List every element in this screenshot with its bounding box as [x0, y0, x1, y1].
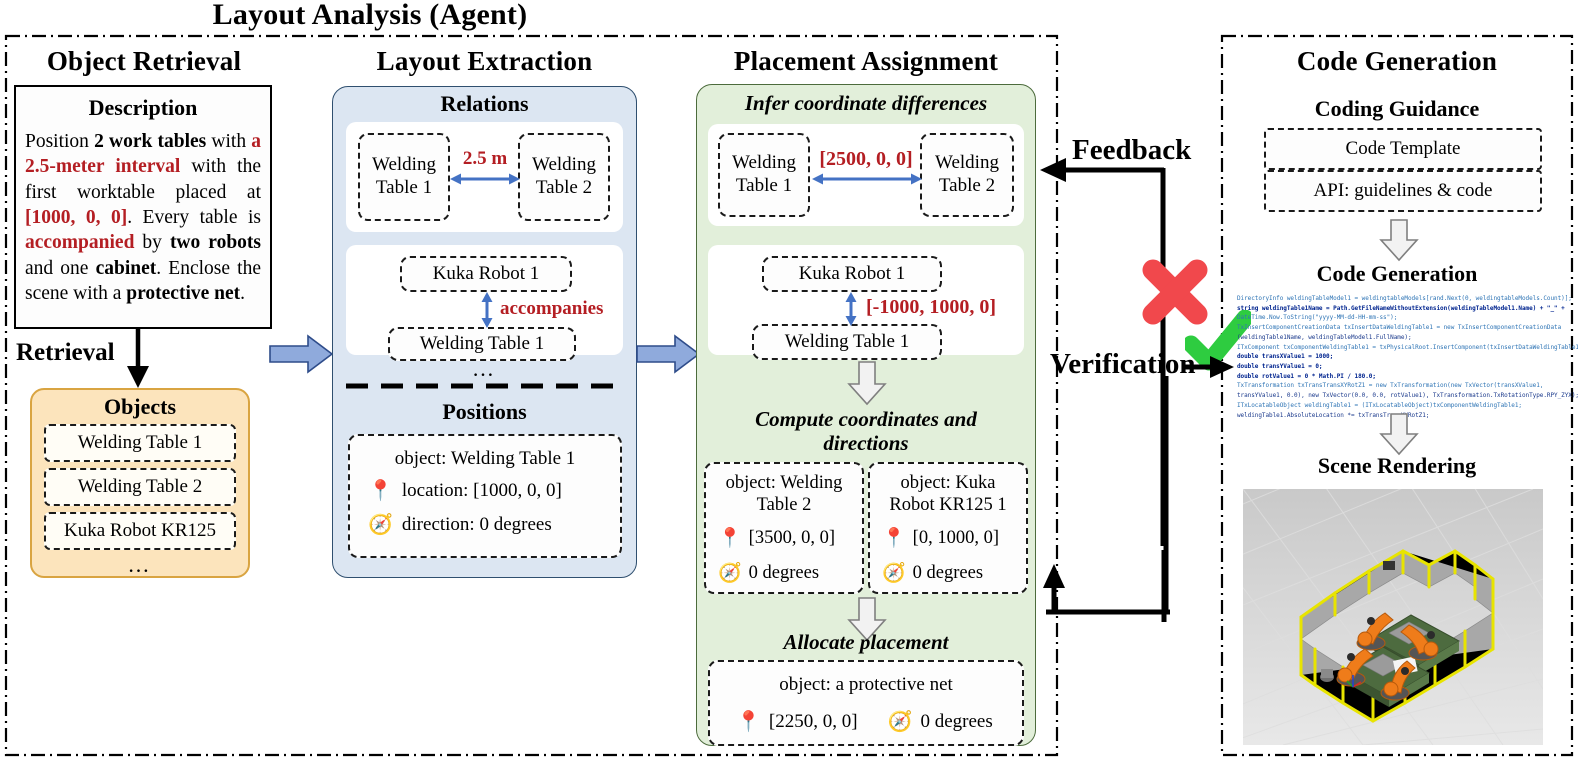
allocate-location-label: [2250, 0, 0] — [769, 711, 858, 733]
diff1-right-label: Welding Table 2 — [935, 152, 999, 198]
map-pin-icon: 📍 — [718, 529, 742, 548]
scene-rendering-image — [1243, 489, 1543, 745]
stage-title-object-retrieval: Object Retrieval — [14, 44, 274, 78]
diff1-left-node: Welding Table 1 — [718, 133, 810, 217]
code-line: ITxLocatableObject weldingTable1 = (ITxL… — [1237, 401, 1567, 411]
relation2-label: accompanies — [500, 298, 603, 320]
diff1-label: [2500, 0, 0] — [810, 148, 922, 170]
code-line: TxInsertComponentCreationData txInsertDa… — [1237, 323, 1567, 333]
object-item-label: Kuka Robot KR125 — [64, 520, 216, 542]
description-bold-term: two robots — [170, 232, 261, 253]
description-text-run: Position — [25, 131, 94, 152]
description-text: Position 2 work tables with a 2.5-meter … — [16, 129, 270, 306]
compass-icon: 🧭 — [718, 564, 742, 583]
allocate-card: object: a protective net 📍 [2250, 0, 0] … — [708, 660, 1024, 746]
description-text-run: with — [206, 131, 251, 152]
codegen-down-arrow-1 — [1377, 218, 1421, 262]
code-line: transYValue1, 0.0), new TxVector(0.0, 0.… — [1237, 391, 1567, 401]
coord2-object-label: object: Kuka Robot KR125 1 — [870, 470, 1026, 520]
map-pin-icon: 📍 — [736, 712, 761, 732]
flow-arrow-1 — [268, 334, 336, 376]
coord1-object-label: object: Welding Table 2 — [706, 470, 862, 520]
api-guidelines-label: API: guidelines & code — [1314, 180, 1493, 202]
coord-card-2: object: Kuka Robot KR125 1 📍 [0, 1000, 0… — [868, 462, 1028, 594]
description-bold-term: protective net — [126, 283, 240, 304]
code-line: TxTransformation txTransTransXYRotZ1 = n… — [1237, 381, 1567, 391]
relations-positions-divider — [346, 382, 624, 390]
description-bold-term: cabinet — [96, 258, 157, 279]
object-item-label: Welding Table 1 — [78, 432, 202, 454]
relation1-right-node: Welding Table 2 — [518, 133, 610, 221]
relation2-arrow — [476, 292, 498, 328]
diagram-top-title: Layout Analysis (Agent) — [0, 0, 740, 32]
map-pin-icon: 📍 — [368, 481, 393, 501]
diff2-label: [-1000, 1000, 0] — [866, 296, 996, 319]
code-line: DirectoryInfo weldingTableModel1 = weldi… — [1237, 294, 1567, 304]
code-generation-subtitle: Code Generation — [1222, 258, 1572, 290]
code-block: DirectoryInfo weldingTableModel1 = weldi… — [1237, 294, 1567, 406]
api-guidelines-box: API: guidelines & code — [1264, 170, 1542, 212]
positions-title: Positions — [332, 396, 637, 428]
diff1-right-node: Welding Table 2 — [920, 133, 1014, 217]
relation1-label: 2.5 m — [452, 148, 518, 170]
description-text-run: and one — [25, 258, 96, 279]
verification-up-arrow-head — [1040, 560, 1070, 616]
relation2-top-node: Kuka Robot 1 — [400, 256, 572, 292]
object-item[interactable]: Kuka Robot KR125 — [44, 512, 236, 550]
position-direction-label: direction: 0 degrees — [402, 514, 552, 536]
code-line: ITxComponent txComponentWeldingTable1 = … — [1237, 343, 1567, 353]
relation1-left-label: Welding Table 1 — [372, 154, 436, 200]
compass-icon: 🧭 — [888, 712, 913, 732]
description-text-run: by — [134, 232, 170, 253]
relation2-bottom-label: Welding Table 1 — [420, 333, 544, 355]
description-text-run: . Every table is — [127, 207, 261, 228]
diff2-top-label: Kuka Robot 1 — [799, 263, 906, 285]
code-template-label: Code Template — [1346, 138, 1461, 160]
position-card: object: Welding Table 1 📍 location: [100… — [348, 434, 622, 558]
compass-icon: 🧭 — [882, 564, 906, 583]
coord1-direction-label: 0 degrees — [749, 563, 819, 584]
map-pin-icon: 📍 — [882, 529, 906, 548]
code-line: double rotValue1 = 0 * Math.PI / 180.0; — [1237, 372, 1567, 382]
retrieval-arrow — [124, 328, 164, 390]
position-object-label: object: Welding Table 1 — [350, 444, 620, 474]
stage-title-placement-assignment: Placement Assignment — [696, 44, 1036, 78]
step3-title: Allocate placement — [696, 628, 1036, 658]
description-text-run: . — [240, 283, 245, 304]
position-location-label: location: [1000, 0, 0] — [402, 480, 562, 502]
diff2-top-node: Kuka Robot 1 — [762, 256, 942, 292]
description-box: Description Position 2 work tables with … — [14, 85, 272, 329]
code-line: double transYValue1 = 0; — [1237, 362, 1567, 372]
placement-down-arrow-1 — [845, 360, 889, 406]
coord1-location-label: [3500, 0, 0] — [749, 528, 835, 549]
compass-icon: 🧭 — [368, 515, 393, 535]
objects-more: … — [32, 554, 248, 576]
description-highlight-term: [1000, 0, 0] — [25, 207, 127, 228]
diff1-left-label: Welding Table 1 — [732, 152, 796, 198]
step2-title: Compute coordinates and directions — [700, 404, 1032, 460]
allocate-direction-label: 0 degrees — [920, 711, 992, 733]
flow-arrow-2 — [635, 334, 703, 376]
verification-right-vertical — [1160, 376, 1174, 616]
code-line: (weldingTable1Name, weldingTableModel1.F… — [1237, 333, 1567, 343]
description-title: Description — [16, 87, 270, 129]
relation1-left-node: Welding Table 1 — [358, 133, 450, 221]
objects-box: Objects Welding Table 1Welding Table 2Ku… — [30, 388, 250, 578]
stage-title-layout-extraction: Layout Extraction — [332, 44, 637, 78]
relation1-arrow — [450, 168, 520, 190]
relation1-right-label: Welding Table 2 — [532, 154, 596, 200]
code-line: double transXValue1 = 1000; — [1237, 352, 1567, 362]
coord-card-1: object: Welding Table 2 📍 [3500, 0, 0] 🧭… — [704, 462, 864, 594]
object-item-label: Welding Table 2 — [78, 476, 202, 498]
diff1-arrow — [812, 168, 922, 190]
coord2-direction-label: 0 degrees — [913, 563, 983, 584]
scene-rendering-title: Scene Rendering — [1222, 450, 1572, 482]
code-line: string weldingTable1Name = Path.GetFileN… — [1237, 304, 1567, 314]
allocate-object-label: object: a protective net — [710, 668, 1022, 702]
relations-more: … — [332, 360, 637, 378]
objects-title: Objects — [32, 390, 248, 424]
diff2-bottom-node: Welding Table 1 — [752, 324, 942, 360]
retrieval-label: Retrieval — [16, 339, 115, 367]
step1-title: Infer coordinate differences — [696, 88, 1036, 120]
coding-guidance-title: Coding Guidance — [1222, 92, 1572, 126]
object-item[interactable]: Welding Table 2 — [44, 468, 236, 506]
diff2-arrow — [840, 292, 862, 326]
verification-arrow — [1184, 352, 1236, 382]
stage-title-code-generation: Code Generation — [1222, 44, 1572, 78]
description-highlight-term: accompanied — [25, 232, 134, 253]
code-template-box: Code Template — [1264, 128, 1542, 170]
relation2-top-label: Kuka Robot 1 — [433, 263, 540, 285]
coord2-location-label: [0, 1000, 0] — [913, 528, 999, 549]
code-line: DateTime.Now.ToString("yyyy-MM-dd-HH-mm-… — [1237, 313, 1567, 323]
object-item[interactable]: Welding Table 1 — [44, 424, 236, 462]
feedback-arrow — [1036, 158, 1166, 220]
diff2-bottom-label: Welding Table 1 — [785, 331, 909, 353]
relations-title: Relations — [332, 89, 637, 119]
description-bold-term: 2 work tables — [94, 131, 206, 152]
